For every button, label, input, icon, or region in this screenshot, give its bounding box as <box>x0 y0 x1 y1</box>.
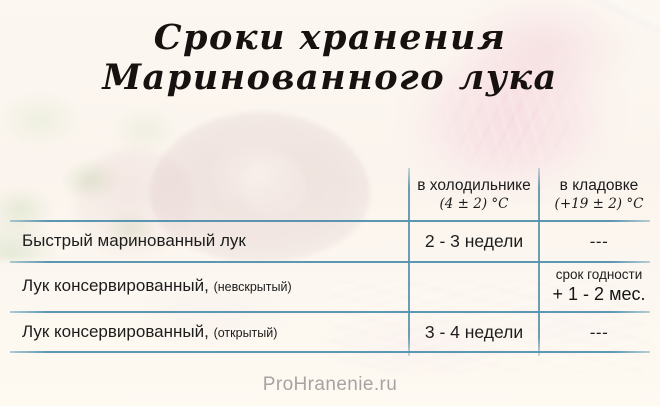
column-header-fridge-temperature: (4 ± 2) °C <box>410 195 538 214</box>
table-rule-row3-bottom <box>10 351 650 353</box>
row-1-label: Быстрый маринованный лук <box>22 231 246 250</box>
page-title: Сроки хранения Маринованного лука <box>0 18 660 98</box>
row-2-label: Лук консервированный, <box>22 276 209 295</box>
column-header-pantry-temperature: (+19 ± 2) °C <box>540 195 658 214</box>
column-header-pantry: в кладовке (+19 ± 2) °C <box>540 176 658 214</box>
table-rule-row1-bottom <box>10 261 650 263</box>
row-2-pantry-note: срок годности <box>540 266 658 283</box>
row-3-label: Лук консервированный, <box>22 322 209 341</box>
row-3-fridge-value: 3 - 4 недели <box>410 322 538 343</box>
row-3-pantry-value: --- <box>540 322 658 343</box>
column-header-pantry-label: в кладовке <box>540 176 658 195</box>
site-watermark: ProHranenie.ru <box>0 374 660 396</box>
table-row: Лук консервированный, (открытый) <box>22 322 402 343</box>
title-line-1: Сроки хранения <box>0 18 660 58</box>
column-header-fridge-label: в холодильнике <box>410 176 538 195</box>
table-row: Лук консервированный, (невскрытый) <box>22 276 402 297</box>
table-rule-header-bottom <box>10 220 650 222</box>
row-2-pantry-value: срок годности + 1 - 2 мес. <box>540 266 658 305</box>
column-header-fridge: в холодильнике (4 ± 2) °C <box>410 176 538 214</box>
row-3-qualifier: (открытый) <box>214 326 278 340</box>
row-1-pantry-value: --- <box>540 231 658 252</box>
table-row: Быстрый маринованный лук <box>22 231 402 251</box>
title-line-2: Маринованного лука <box>0 58 660 98</box>
infographic-card: Сроки хранения Маринованного лука в холо… <box>0 0 660 406</box>
row-2-qualifier: (невскрытый) <box>214 280 292 294</box>
table-rule-row2-bottom <box>10 311 650 313</box>
row-2-pantry-duration: + 1 - 2 мес. <box>540 283 658 305</box>
row-1-fridge-value: 2 - 3 недели <box>410 231 538 252</box>
